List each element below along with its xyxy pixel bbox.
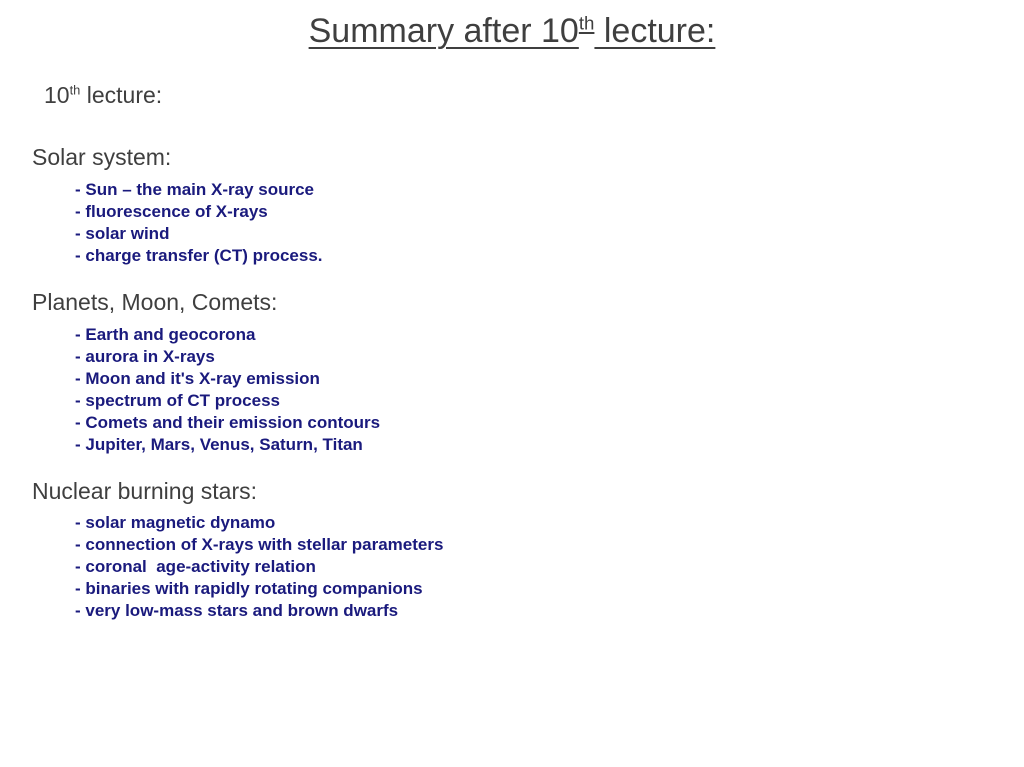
section-heading: Solar system: — [32, 143, 1024, 172]
list-item: - very low-mass stars and brown dwarfs — [75, 600, 1024, 622]
lecture-label: lecture: — [80, 82, 162, 108]
lecture-number: 10 — [44, 82, 70, 108]
section-planets-moon-comets: Planets, Moon, Comets: - Earth and geoco… — [0, 288, 1024, 456]
list-item: - solar wind — [75, 223, 1024, 245]
list-item: - aurora in X-rays — [75, 346, 1024, 368]
presentation-slide: Summary after 10th lecture: 10th lecture… — [0, 0, 1024, 767]
slide-title-suffix: lecture: — [594, 12, 715, 50]
list-item: - connection of X-rays with stellar para… — [75, 534, 1024, 556]
section-solar-system: Solar system: - Sun – the main X-ray sou… — [0, 143, 1024, 267]
bullet-list: - Earth and geocorona - aurora in X-rays… — [75, 324, 1024, 456]
bullet-list: - solar magnetic dynamo - connection of … — [75, 512, 1024, 622]
list-item: - coronal age-activity relation — [75, 556, 1024, 578]
list-item: - Earth and geocorona — [75, 324, 1024, 346]
section-nuclear-burning-stars: Nuclear burning stars: - solar magnetic … — [0, 477, 1024, 623]
lecture-subheading: 10th lecture: — [44, 82, 162, 108]
slide-title-superscript: th — [579, 13, 595, 34]
list-item: - fluorescence of X-rays — [75, 201, 1024, 223]
section-heading: Planets, Moon, Comets: — [32, 288, 1024, 317]
list-item: - binaries with rapidly rotating compani… — [75, 578, 1024, 600]
bullet-list: - Sun – the main X-ray source - fluoresc… — [75, 179, 1024, 267]
lecture-number-superscript: th — [70, 82, 81, 97]
slide-title: Summary after 10th lecture: — [0, 13, 1024, 50]
list-item: - spectrum of CT process — [75, 390, 1024, 412]
section-heading: Nuclear burning stars: — [32, 477, 1024, 506]
list-item: - charge transfer (CT) process. — [75, 245, 1024, 267]
slide-content: Solar system: - Sun – the main X-ray sou… — [0, 143, 1024, 622]
slide-title-main: Summary after 10 — [309, 12, 579, 50]
list-item: - Jupiter, Mars, Venus, Saturn, Titan — [75, 434, 1024, 456]
list-item: - solar magnetic dynamo — [75, 512, 1024, 534]
list-item: - Comets and their emission contours — [75, 412, 1024, 434]
list-item: - Moon and it's X-ray emission — [75, 368, 1024, 390]
list-item: - Sun – the main X-ray source — [75, 179, 1024, 201]
